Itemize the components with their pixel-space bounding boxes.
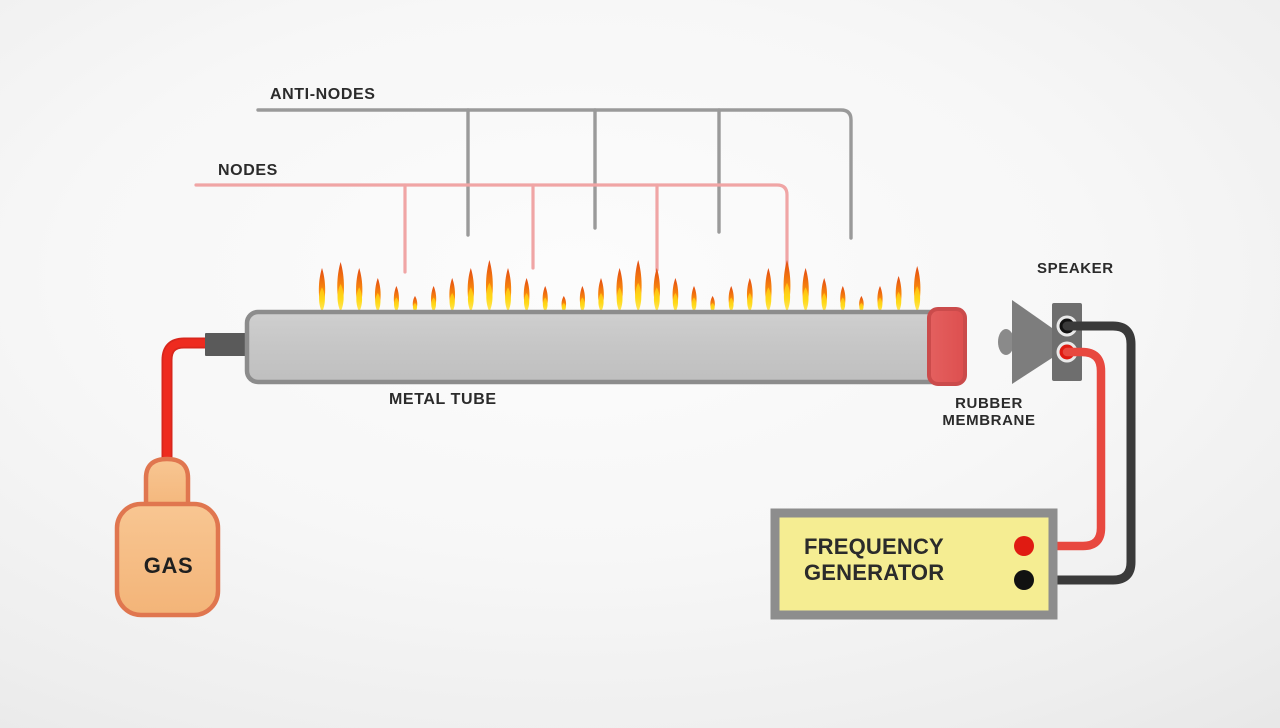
flame [710, 296, 715, 312]
flame [747, 278, 753, 312]
flame [468, 268, 474, 312]
antinode-callout-lines [258, 110, 851, 238]
flame [598, 278, 604, 312]
diagram-canvas: ANTI-NODES NODES METAL TUBE RUBBER MEMBR… [0, 0, 1280, 728]
rubber-membrane [929, 309, 965, 384]
flame [859, 296, 864, 312]
flame [394, 286, 399, 312]
flame [431, 286, 436, 312]
gas-tank [117, 459, 218, 615]
flame [877, 286, 882, 312]
flame [580, 286, 585, 312]
flame [413, 296, 418, 312]
speaker-cone [1012, 300, 1052, 384]
flame [914, 266, 920, 312]
flame [543, 286, 548, 312]
anti-nodes-label: ANTI-NODES [270, 86, 376, 104]
metal-tube-body [247, 312, 963, 382]
flame [356, 268, 362, 312]
generator-positive-terminal[interactable] [1014, 536, 1034, 556]
nodes-label: NODES [218, 162, 278, 180]
flame [765, 268, 771, 312]
speaker-magnet [998, 329, 1014, 355]
flame [449, 278, 455, 312]
flame [840, 286, 845, 312]
flame [691, 286, 696, 312]
speaker-label: SPEAKER [1037, 261, 1114, 278]
frequency-generator-label: FREQUENCY GENERATOR [804, 534, 944, 586]
speaker [998, 300, 1082, 384]
flame [337, 262, 344, 312]
diagram-svg [0, 0, 1280, 728]
flame-row [319, 260, 921, 312]
flame [821, 278, 827, 312]
gas-tank-label: GAS [117, 554, 220, 579]
flame [616, 268, 622, 312]
flame [784, 260, 791, 312]
flame [562, 296, 567, 312]
flame [635, 260, 642, 312]
node-callout-lines [196, 185, 787, 272]
flame [505, 268, 511, 312]
flame [729, 286, 734, 312]
flame [673, 278, 679, 312]
flame [802, 268, 808, 312]
generator-negative-terminal[interactable] [1014, 570, 1034, 590]
flame [319, 268, 325, 312]
flame [896, 276, 902, 312]
flame [486, 260, 493, 312]
flame [375, 278, 381, 312]
metal-tube-label: METAL TUBE [389, 391, 497, 409]
rubber-membrane-label: RUBBER MEMBRANE [866, 396, 1112, 430]
flame [524, 278, 530, 312]
flame [654, 268, 660, 312]
